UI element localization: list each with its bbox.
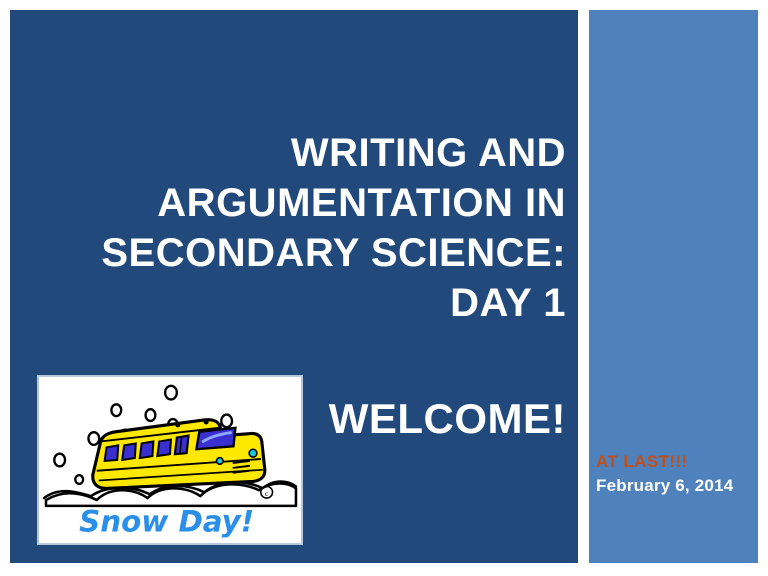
snow-day-image: c Snow Day!: [37, 375, 303, 545]
title-line-2: Argumentation in: [34, 178, 566, 228]
snow-day-school-bus-icon: c Snow Day!: [39, 377, 301, 543]
title-line-1: Writing and: [34, 128, 566, 178]
subtitle-emphasis: AT LAST!!!: [596, 451, 752, 473]
page-title: Writing and Argumentation in Secondary S…: [34, 128, 566, 328]
title-line-3: Secondary Science:: [34, 228, 566, 278]
slide-accent-panel: AT LAST!!! February 6, 2014: [589, 10, 758, 563]
subtitle-block: AT LAST!!! February 6, 2014: [596, 451, 752, 497]
presentation-slide: Writing and Argumentation in Secondary S…: [0, 0, 768, 576]
snow-day-caption: Snow Day!: [79, 504, 254, 538]
title-line-4: Day 1: [34, 278, 566, 328]
svg-text:c: c: [265, 489, 269, 498]
slide-main-panel: Writing and Argumentation in Secondary S…: [10, 10, 578, 563]
date-label: February 6, 2014: [596, 475, 752, 497]
